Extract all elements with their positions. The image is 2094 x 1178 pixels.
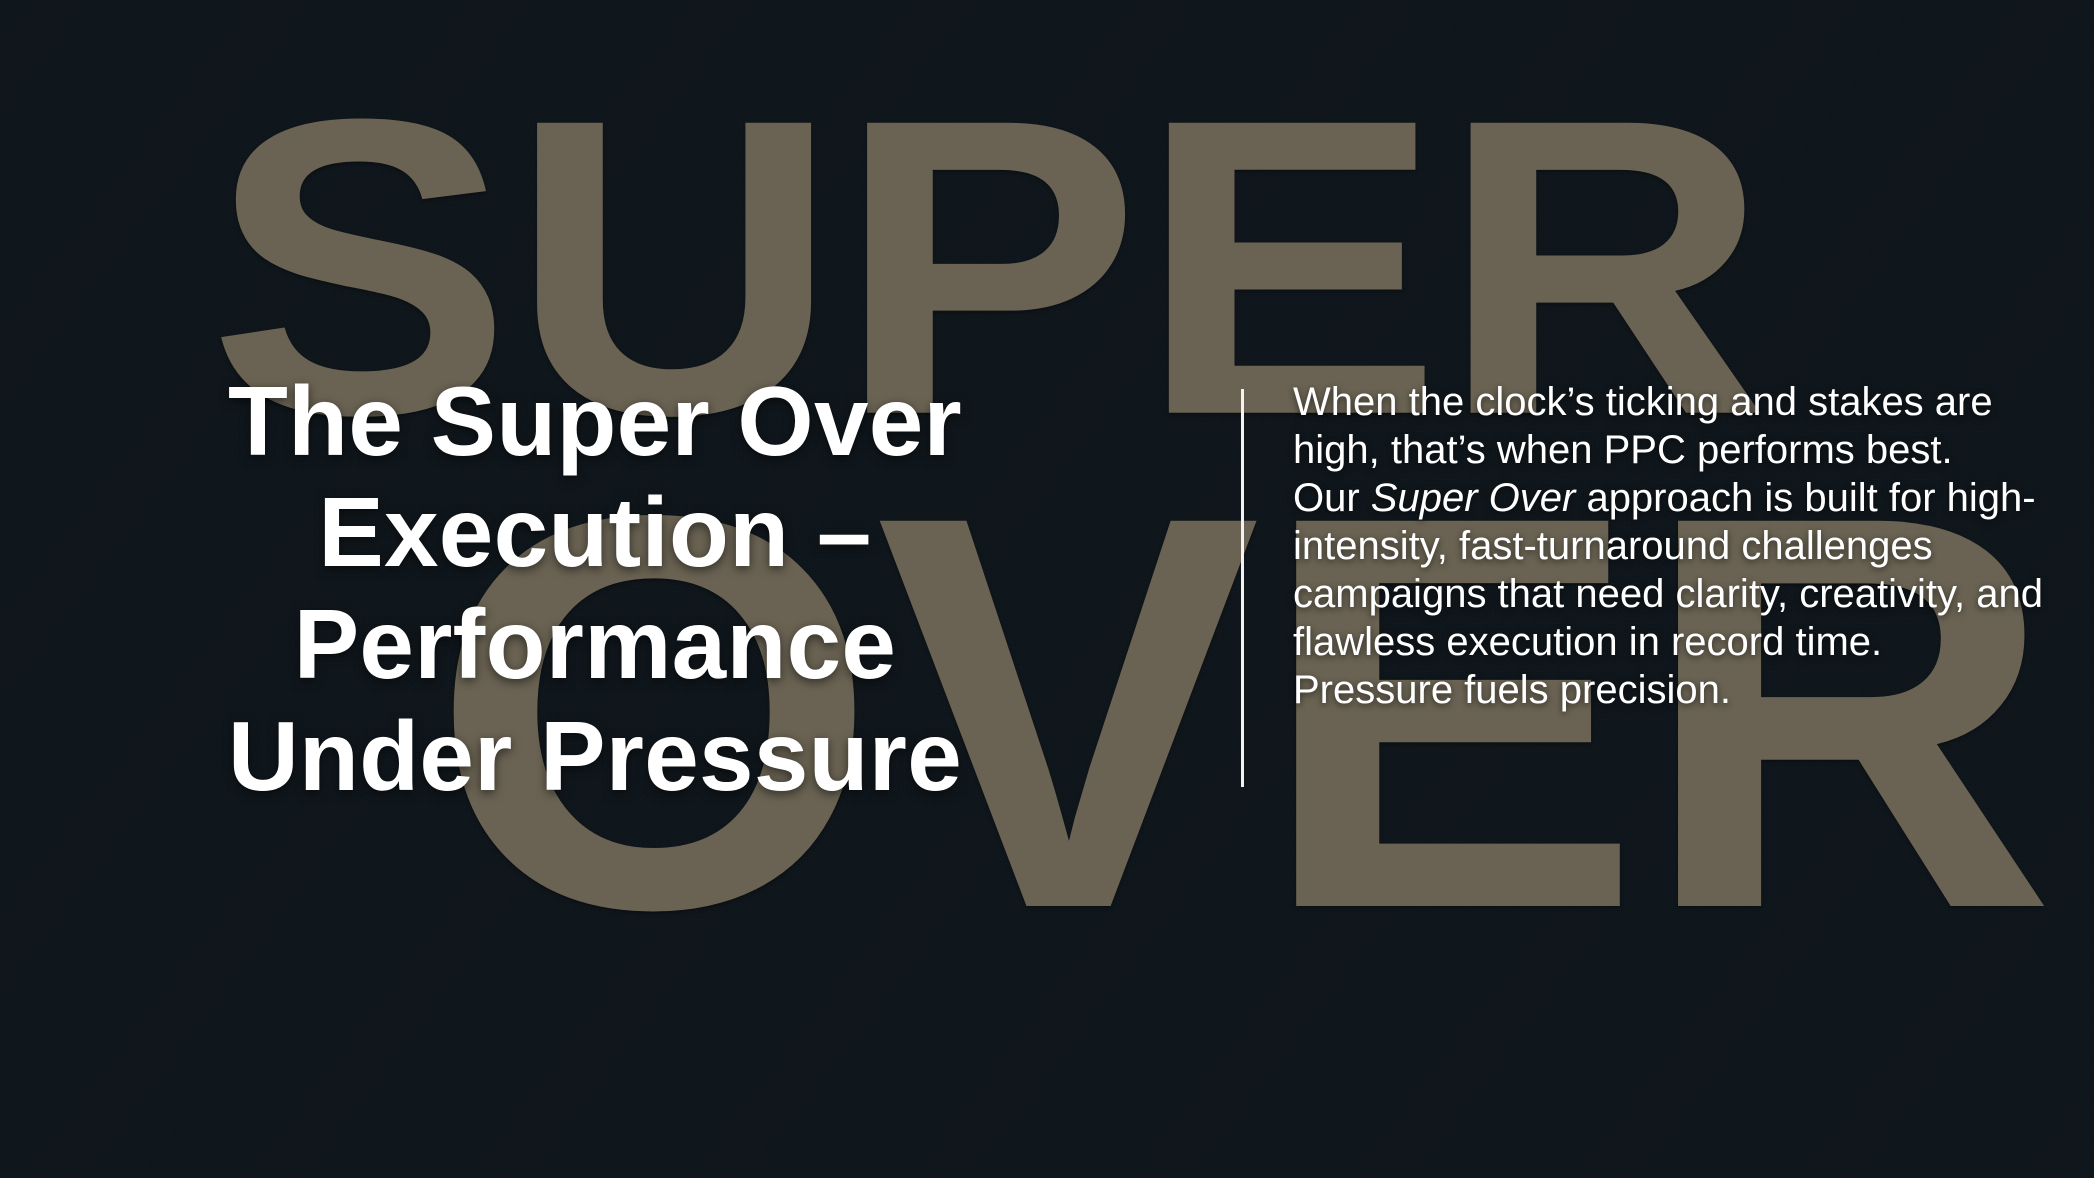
presentation-slide: SUPER OVER The Super Over Execution – Pe…: [0, 0, 2094, 1178]
body-paragraph-3: Pressure fuels precision.: [1293, 666, 2053, 714]
slide-body-copy: When the clock’s ticking and stakes are …: [1293, 378, 2053, 714]
slide-headline: The Super Over Execution – Performance U…: [95, 366, 1095, 813]
body-paragraph-1: When the clock’s ticking and stakes are …: [1293, 378, 2053, 474]
body-paragraph-2: Our Super Over approach is built for hig…: [1293, 474, 2053, 666]
vertical-divider-rule: [1241, 389, 1244, 787]
body-paragraph-2-prefix: Our: [1293, 476, 1371, 520]
body-paragraph-2-emphasis: Super Over: [1371, 476, 1576, 520]
